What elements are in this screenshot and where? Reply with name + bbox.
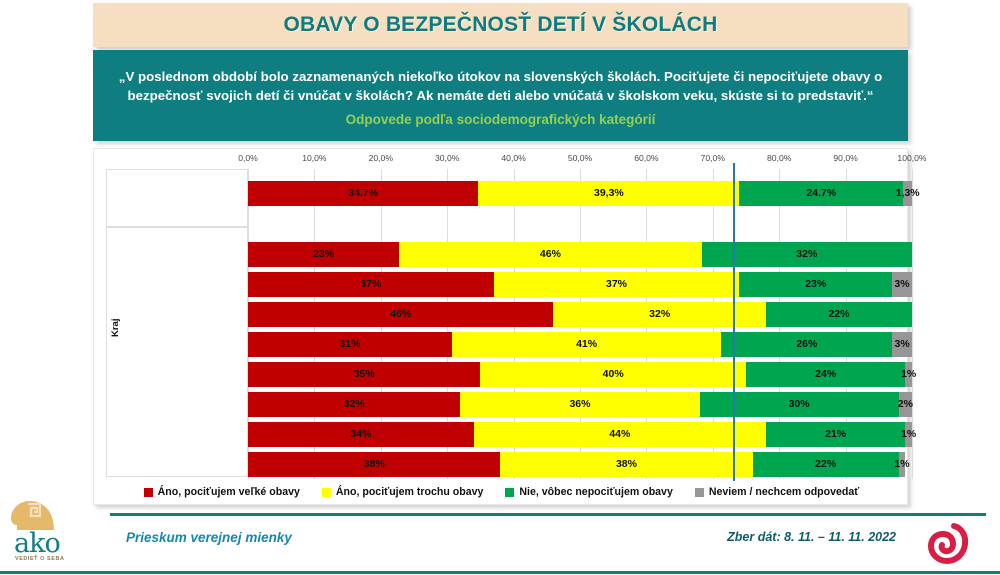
chart-legend: Áno, pociťujem veľké obavyÁno, pociťujem… — [94, 486, 909, 498]
legend-item[interactable]: Nie, vôbec nepociťujem obavy — [505, 486, 672, 498]
y-axis-title: Kraj — [110, 319, 121, 337]
bar-value-label: 24% — [815, 369, 836, 380]
bar-series-container: 34,7%39,3%24,7%1,3%23%46%32%37%37%23%3%4… — [248, 169, 912, 479]
legend-label: Nie, vôbec nepociťujem obavy — [519, 486, 672, 498]
bar-value-label: 26% — [796, 339, 817, 350]
bar-segment: 1% — [905, 362, 912, 387]
bar-value-label: 1% — [894, 459, 909, 470]
legend-swatch — [695, 488, 704, 497]
ako-logo: ako VEDIEŤ O SEBA — [8, 498, 104, 570]
bar-segment: 44% — [474, 422, 766, 447]
bar-value-label: 1% — [901, 429, 916, 440]
bar-value-label: 34,7% — [348, 188, 378, 199]
bar-value-label: 36% — [569, 399, 590, 410]
bar-value-label: 23% — [313, 249, 334, 260]
legend-item[interactable]: Áno, pociťujem trochu obavy — [322, 486, 484, 498]
bar-segment: 37% — [494, 272, 740, 297]
bar-value-label: 32% — [649, 309, 670, 320]
legend-label: Neviem / nechcem odpovedať — [709, 486, 860, 498]
bar-value-label: 32% — [344, 399, 365, 410]
bar-value-label: 46% — [540, 249, 561, 260]
bar-value-label: 40% — [603, 369, 624, 380]
bar-value-label: 1% — [901, 369, 916, 380]
legend-swatch — [505, 488, 514, 497]
bar-segment: 30% — [700, 392, 899, 417]
bar-value-label: 31% — [339, 339, 360, 350]
bar-value-label: 23% — [805, 279, 826, 290]
bar-segment: 1% — [899, 452, 906, 477]
ako-tagline: VEDIEŤ O SEBA — [15, 556, 64, 562]
footer-divider — [110, 513, 986, 516]
ako-wordmark: ako — [14, 528, 60, 559]
bar-segment: 22% — [753, 452, 899, 477]
bar-row: 32%36%30%2% — [248, 392, 912, 417]
x-tick-label: 20,0% — [369, 153, 393, 163]
plot-area: Kraj 34,7%39,3%24,7%1,3%23%46%32%37%37%2… — [94, 169, 909, 479]
bar-segment: 35% — [248, 362, 480, 387]
bar-value-label: 2% — [898, 399, 913, 410]
bar-segment: 31% — [248, 332, 452, 357]
legend-label: Áno, pociťujem trochu obavy — [336, 486, 484, 498]
footer-bottom-bar — [0, 571, 1000, 574]
bar-value-label: 46% — [390, 309, 411, 320]
bar-row: 23%46%32% — [248, 242, 912, 267]
spiral-mark-icon — [924, 520, 970, 566]
reference-line — [733, 163, 736, 481]
bar-segment: 34% — [248, 422, 474, 447]
bar-value-label: 41% — [576, 339, 597, 350]
x-tick-label: 0,0% — [238, 153, 258, 163]
question-subtitle: Odpovede podľa sociodemografických kateg… — [346, 112, 656, 127]
bar-value-label: 22% — [815, 459, 836, 470]
footer-left-text: Prieskum verejnej mienky — [126, 530, 292, 545]
bar-row: 37%37%23%3% — [248, 272, 912, 297]
head-profile-icon — [8, 498, 104, 532]
bar-value-label: 30% — [789, 399, 810, 410]
legend-label: Áno, pociťujem veľké obavy — [158, 486, 300, 498]
bar-value-label: 44% — [609, 429, 630, 440]
bar-row: 34,7%39,3%24,7%1,3% — [248, 181, 912, 206]
bar-value-label: 32% — [796, 249, 817, 260]
bar-value-label: 24,7% — [806, 188, 836, 199]
bar-value-label: 21% — [825, 429, 846, 440]
x-tick-label: 50,0% — [568, 153, 592, 163]
footer-right-text: Zber dát: 8. 11. – 11. 11. 2022 — [727, 530, 896, 544]
x-tick-label: 100,0% — [897, 153, 926, 163]
bar-segment: 2% — [899, 392, 912, 417]
bar-segment: 36% — [460, 392, 699, 417]
x-tick-label: 90,0% — [833, 153, 857, 163]
bar-segment: 39,3% — [478, 181, 739, 206]
x-axis-tick-labels: 0,0%10,0%20,0%30,0%40,0%50,0%60,0%70,0%8… — [94, 153, 909, 169]
title-banner: OBAVY O BEZPEČNOSŤ DETÍ V ŠKOLÁCH — [93, 3, 908, 47]
x-tick-label: 30,0% — [435, 153, 459, 163]
bar-row: 38%38%22%1% — [248, 452, 912, 477]
bar-segment: 3% — [892, 332, 912, 357]
bar-segment: 41% — [452, 332, 722, 357]
bar-segment: 22% — [766, 302, 912, 327]
bar-segment: 46% — [399, 242, 701, 267]
bar-value-label: 39,3% — [594, 188, 624, 199]
page-title: OBAVY O BEZPEČNOSŤ DETÍ V ŠKOLÁCH — [283, 13, 717, 37]
x-tick-label: 60,0% — [634, 153, 658, 163]
question-box: „V poslednom období bolo zaznamenaných n… — [93, 50, 908, 141]
bar-segment: 40% — [480, 362, 746, 387]
x-tick-label: 80,0% — [767, 153, 791, 163]
bar-segment: 26% — [721, 332, 892, 357]
bar-value-label: 22% — [828, 309, 849, 320]
bar-segment: 38% — [248, 452, 500, 477]
bar-value-label: 38% — [364, 459, 385, 470]
bar-segment: 32% — [248, 392, 460, 417]
bar-row: 46%32%22% — [248, 302, 912, 327]
x-tick-label: 40,0% — [501, 153, 525, 163]
bar-value-label: 35% — [354, 369, 375, 380]
slide: OBAVY O BEZPEČNOSŤ DETÍ V ŠKOLÁCH „V pos… — [0, 0, 1000, 575]
question-text: „V poslednom období bolo zaznamenaných n… — [109, 67, 892, 106]
bar-segment: 1% — [905, 422, 912, 447]
legend-swatch — [322, 488, 331, 497]
bar-value-label: 37% — [606, 279, 627, 290]
bar-row: 34%44%21%1% — [248, 422, 912, 447]
bar-segment: 37% — [248, 272, 494, 297]
bar-row: 31%41%26%3% — [248, 332, 912, 357]
x-tick-label: 10,0% — [302, 153, 326, 163]
chart-panel: 0,0%10,0%20,0%30,0%40,0%50,0%60,0%70,0%8… — [93, 148, 908, 505]
bar-segment: 23% — [248, 242, 399, 267]
bar-row: 35%40%24%1% — [248, 362, 912, 387]
category-label-card-kraj — [106, 227, 248, 477]
bar-value-label: 37% — [360, 279, 381, 290]
legend-item[interactable]: Neviem / nechcem odpovedať — [695, 486, 860, 498]
bar-segment: 1,3% — [903, 181, 912, 206]
bar-value-label: 38% — [616, 459, 637, 470]
bar-segment: 38% — [500, 452, 752, 477]
category-label-card-sample — [106, 169, 248, 227]
x-tick-label: 70,0% — [701, 153, 725, 163]
bar-segment: 3% — [892, 272, 912, 297]
bar-segment: 23% — [739, 272, 892, 297]
bar-value-label: 34% — [350, 429, 371, 440]
bar-value-label: 3% — [894, 279, 909, 290]
bar-segment: 34,7% — [248, 181, 478, 206]
bar-value-label: 3% — [895, 339, 910, 350]
bar-segment: 21% — [766, 422, 905, 447]
bar-segment: 24,7% — [739, 181, 903, 206]
bar-segment: 24% — [746, 362, 905, 387]
legend-swatch — [144, 488, 153, 497]
legend-item[interactable]: Áno, pociťujem veľké obavy — [144, 486, 300, 498]
bar-value-label: 1,3% — [896, 188, 920, 199]
bar-segment: 46% — [248, 302, 553, 327]
